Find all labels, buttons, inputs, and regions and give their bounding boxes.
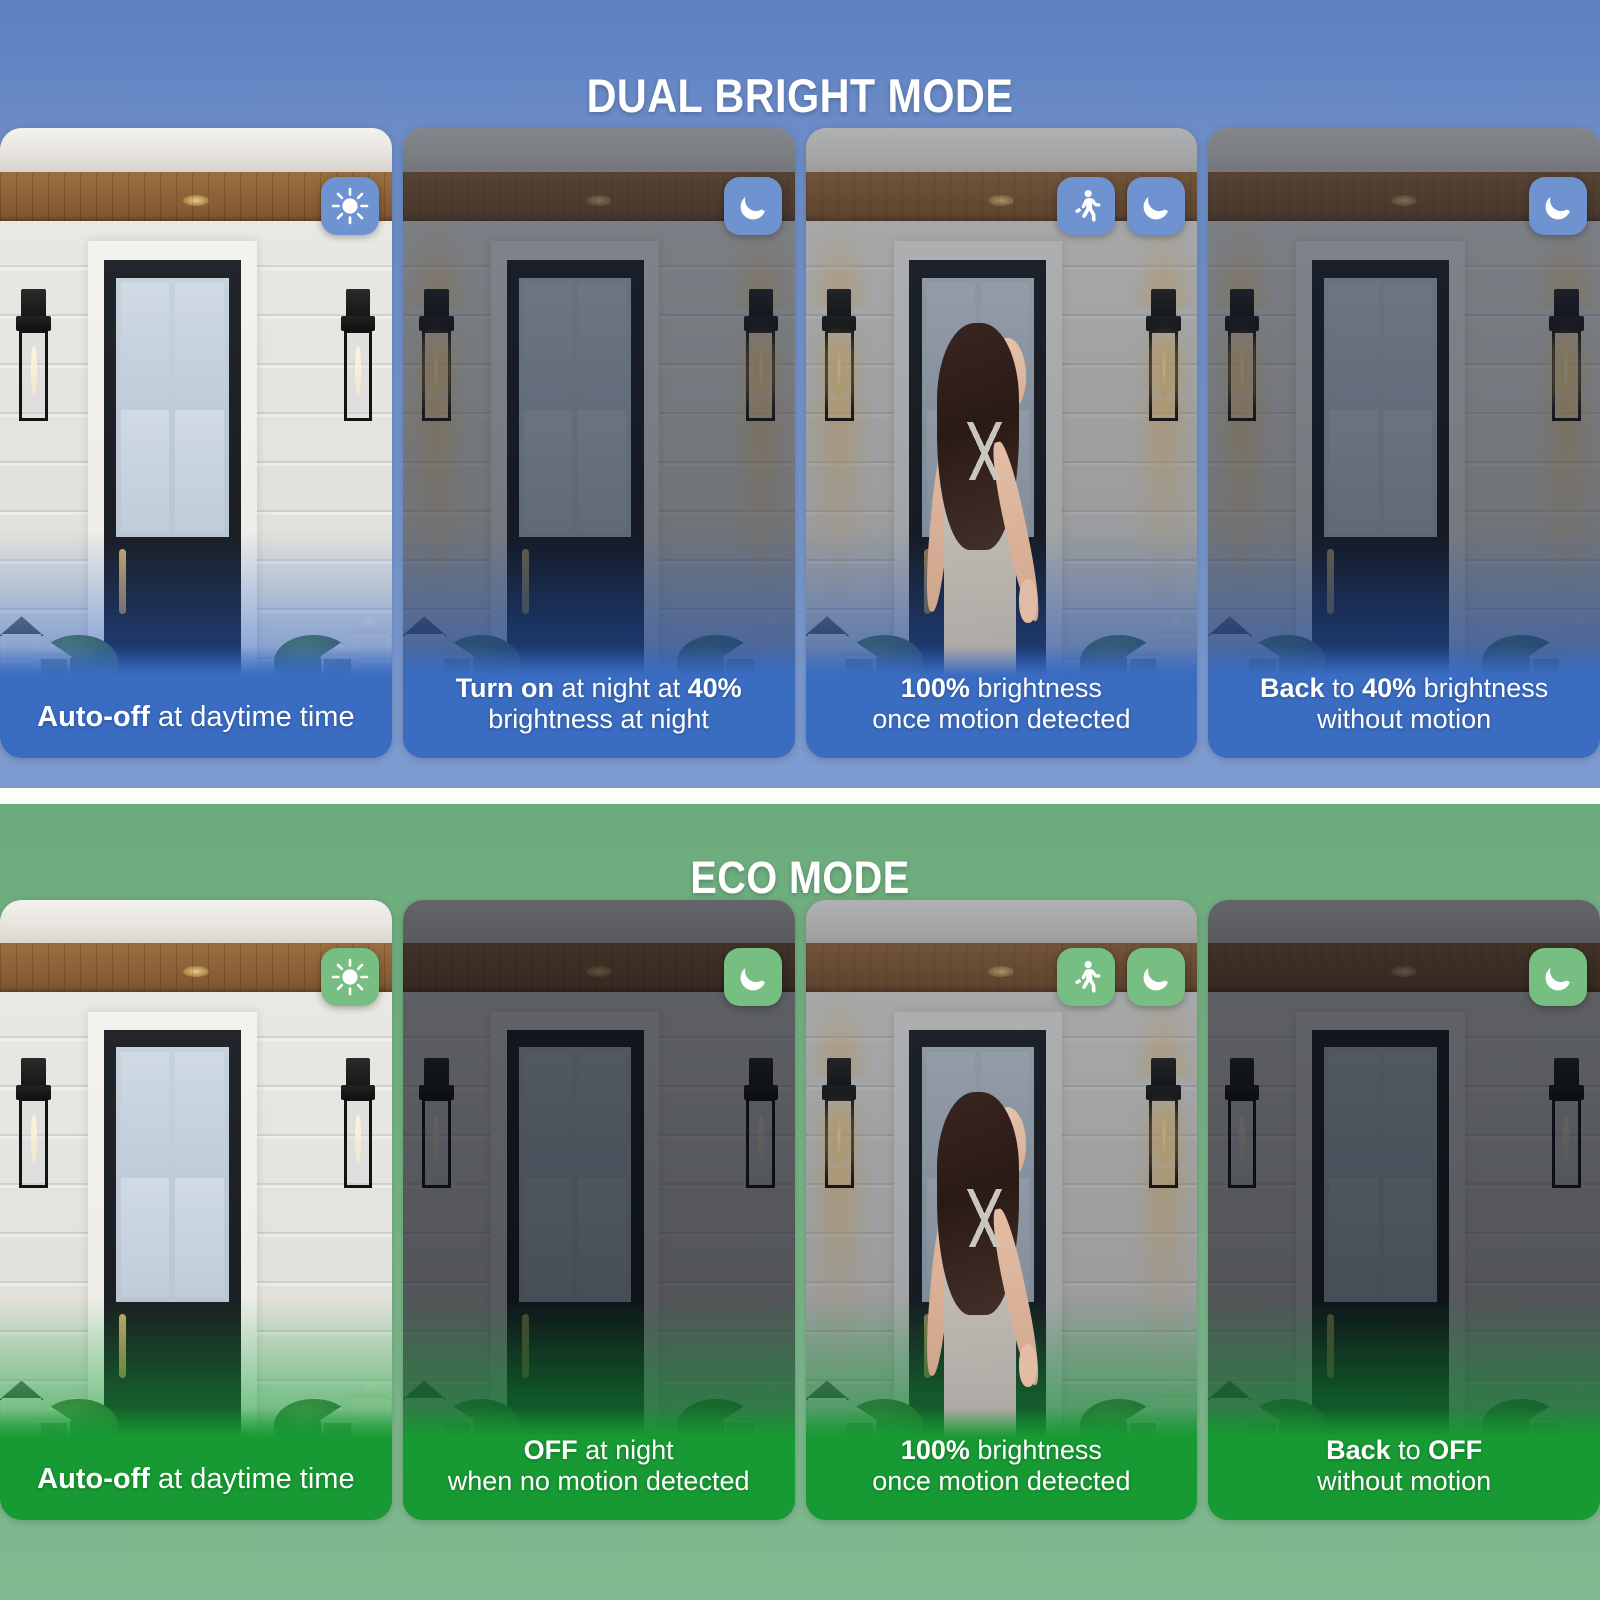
door-glass-panes <box>519 278 631 537</box>
sconce-glass-box <box>1228 1098 1257 1188</box>
panel-caption-text: 100% brightnessonce motion detected <box>820 673 1184 742</box>
panel-row-eco: Auto-off at daytime timeOFF at nightwhen… <box>0 900 1600 1520</box>
walking-person-icon <box>1067 187 1105 225</box>
person-figure <box>907 1092 1072 1452</box>
panel-caption-text: Auto-off at daytime time <box>14 1463 378 1504</box>
door-glass-panes <box>1324 278 1436 537</box>
mode-panel[interactable]: 100% brightnessonce motion detected <box>806 900 1198 1520</box>
sconce-glass-box <box>746 1098 775 1188</box>
sconce-glass-box <box>1149 1098 1178 1188</box>
panel-caption: 100% brightnessonce motion detected <box>806 646 1198 758</box>
panel-caption: 100% brightnessonce motion detected <box>806 1408 1198 1520</box>
badge-sun[interactable] <box>321 177 379 235</box>
wall-sconce-left <box>16 289 52 421</box>
roof-fascia <box>806 900 1198 947</box>
sconce-glass-box <box>1552 1098 1581 1188</box>
mode-panel[interactable]: Back to OFFwithout motion <box>1208 900 1600 1520</box>
person-dress-straps <box>963 422 1006 480</box>
recessed-ceiling-light <box>1391 195 1417 206</box>
sconce-bulb <box>31 346 37 395</box>
person-hand <box>1019 1344 1037 1387</box>
sconce-bulb <box>836 346 842 395</box>
sconce-bulb <box>355 1115 361 1164</box>
badge-moon[interactable] <box>1127 177 1185 235</box>
section-eco-mode: ECO MODE Auto-off at daytime timeOFF at … <box>0 790 1600 1600</box>
door-glass-panes <box>519 1047 631 1302</box>
wall-sconce-left <box>16 1058 52 1188</box>
wall-sconce-left <box>1224 289 1260 421</box>
person-figure <box>907 323 1072 688</box>
wall-sconce-right <box>340 1058 376 1188</box>
sconce-glass-box <box>19 1098 48 1188</box>
section-title-eco: ECO MODE <box>96 852 1504 904</box>
roof-fascia <box>403 128 795 175</box>
section-dual-bright-mode: DUAL BRIGHT MODE Auto-off at daytime tim… <box>0 0 1600 790</box>
panel-caption-text: Auto-off at daytime time <box>14 701 378 742</box>
roof-fascia <box>1208 900 1600 947</box>
mode-panel[interactable]: Auto-off at daytime time <box>0 900 392 1520</box>
sconce-bulb <box>1161 346 1167 395</box>
sconce-bulb <box>1563 346 1569 395</box>
mode-panel[interactable]: Back to 40% brightnesswithout motion <box>1208 128 1600 758</box>
wall-sconce-left <box>821 1058 857 1188</box>
moon-icon <box>1137 958 1175 996</box>
moon-icon <box>734 187 772 225</box>
walking-person-icon <box>1067 958 1105 996</box>
sconce-bulb <box>836 1115 842 1164</box>
person-hand <box>1019 579 1037 623</box>
wall-sconce-right <box>1146 289 1182 421</box>
panel-caption-text: 100% brightnessonce motion detected <box>820 1435 1184 1504</box>
sconce-glass-box <box>19 330 48 421</box>
mode-panel[interactable]: OFF at nightwhen no motion detected <box>403 900 795 1520</box>
panel-caption-text: Back to 40% brightnesswithout motion <box>1222 673 1586 742</box>
panel-caption: Back to OFFwithout motion <box>1208 1408 1600 1520</box>
badge-walking-person[interactable] <box>1057 177 1115 235</box>
badge-sun[interactable] <box>321 948 379 1006</box>
wall-sconce-left <box>418 1058 454 1188</box>
sconce-glass-box <box>825 1098 854 1188</box>
state-badge-row <box>321 177 379 235</box>
panel-caption-text: OFF at nightwhen no motion detected <box>417 1435 781 1504</box>
sconce-bulb <box>758 1115 764 1164</box>
moon-icon <box>1539 187 1577 225</box>
moon-icon <box>1539 958 1577 996</box>
sconce-glass-box <box>1228 330 1257 421</box>
panel-caption-text: Turn on at night at 40%brightness at nig… <box>417 673 781 742</box>
recessed-ceiling-light <box>586 966 612 977</box>
sconce-glass-box <box>422 1098 451 1188</box>
sconce-bulb <box>31 1115 37 1164</box>
wall-sconce-left <box>1224 1058 1260 1188</box>
sconce-bulb <box>1239 346 1245 395</box>
badge-moon[interactable] <box>1529 948 1587 1006</box>
wall-sconce-right <box>1548 1058 1584 1188</box>
badge-moon[interactable] <box>724 177 782 235</box>
roof-fascia <box>806 128 1198 175</box>
sconce-glass-box <box>1552 330 1581 421</box>
panel-caption: OFF at nightwhen no motion detected <box>403 1408 795 1520</box>
sconce-glass-box <box>825 330 854 421</box>
sconce-glass-box <box>746 330 775 421</box>
roof-fascia <box>0 900 392 947</box>
door-glass-panes <box>116 1047 228 1302</box>
wall-sconce-right <box>1146 1058 1182 1188</box>
sconce-glass-box <box>1149 330 1178 421</box>
state-badge-row <box>1057 948 1185 1006</box>
sconce-bulb <box>433 346 439 395</box>
badge-moon[interactable] <box>724 948 782 1006</box>
panel-caption: Back to 40% brightnesswithout motion <box>1208 646 1600 758</box>
panel-caption-text: Back to OFFwithout motion <box>1222 1435 1586 1504</box>
recessed-ceiling-light <box>988 966 1014 977</box>
sconce-bulb <box>355 346 361 395</box>
sconce-bulb <box>1161 1115 1167 1164</box>
state-badge-row <box>1057 177 1185 235</box>
wall-sconce-left <box>821 289 857 421</box>
wall-sconce-left <box>418 289 454 421</box>
recessed-ceiling-light <box>183 195 209 206</box>
roof-fascia <box>1208 128 1600 175</box>
wall-sconce-right <box>743 289 779 421</box>
wall-sconce-right <box>743 1058 779 1188</box>
moon-icon <box>734 958 772 996</box>
recessed-ceiling-light <box>183 966 209 977</box>
panel-caption: Auto-off at daytime time <box>0 646 392 758</box>
panel-caption: Auto-off at daytime time <box>0 1408 392 1520</box>
person-dress-straps <box>963 1189 1006 1247</box>
section-title-dual-bright: DUAL BRIGHT MODE <box>96 68 1504 123</box>
moon-icon <box>1137 187 1175 225</box>
state-badge-row <box>1529 948 1587 1006</box>
sconce-bulb <box>758 346 764 395</box>
sconce-glass-box <box>344 1098 373 1188</box>
sconce-glass-box <box>422 330 451 421</box>
state-badge-row <box>724 948 782 1006</box>
product-mode-infographic: DUAL BRIGHT MODE Auto-off at daytime tim… <box>0 0 1600 1600</box>
badge-moon[interactable] <box>1127 948 1185 1006</box>
recessed-ceiling-light <box>586 195 612 206</box>
sun-icon <box>331 187 369 225</box>
wall-sconce-right <box>340 289 376 421</box>
roof-fascia <box>403 900 795 947</box>
roof-fascia <box>0 128 392 175</box>
door-glass-panes <box>116 278 228 537</box>
recessed-ceiling-light <box>1391 966 1417 977</box>
panel-row-dual-bright: Auto-off at daytime timeTurn on at night… <box>0 128 1600 758</box>
sconce-bulb <box>1239 1115 1245 1164</box>
panel-caption: Turn on at night at 40%brightness at nig… <box>403 646 795 758</box>
badge-walking-person[interactable] <box>1057 948 1115 1006</box>
recessed-ceiling-light <box>988 195 1014 206</box>
badge-moon[interactable] <box>1529 177 1587 235</box>
mode-panel[interactable]: Turn on at night at 40%brightness at nig… <box>403 128 795 758</box>
state-badge-row <box>1529 177 1587 235</box>
door-glass-panes <box>1324 1047 1436 1302</box>
state-badge-row <box>724 177 782 235</box>
mode-panel[interactable]: Auto-off at daytime time <box>0 128 392 758</box>
state-badge-row <box>321 948 379 1006</box>
section-divider <box>0 788 1600 804</box>
wall-sconce-right <box>1548 289 1584 421</box>
mode-panel[interactable]: 100% brightnessonce motion detected <box>806 128 1198 758</box>
sconce-bulb <box>1563 1115 1569 1164</box>
sconce-glass-box <box>344 330 373 421</box>
sconce-bulb <box>433 1115 439 1164</box>
sun-icon <box>331 958 369 996</box>
